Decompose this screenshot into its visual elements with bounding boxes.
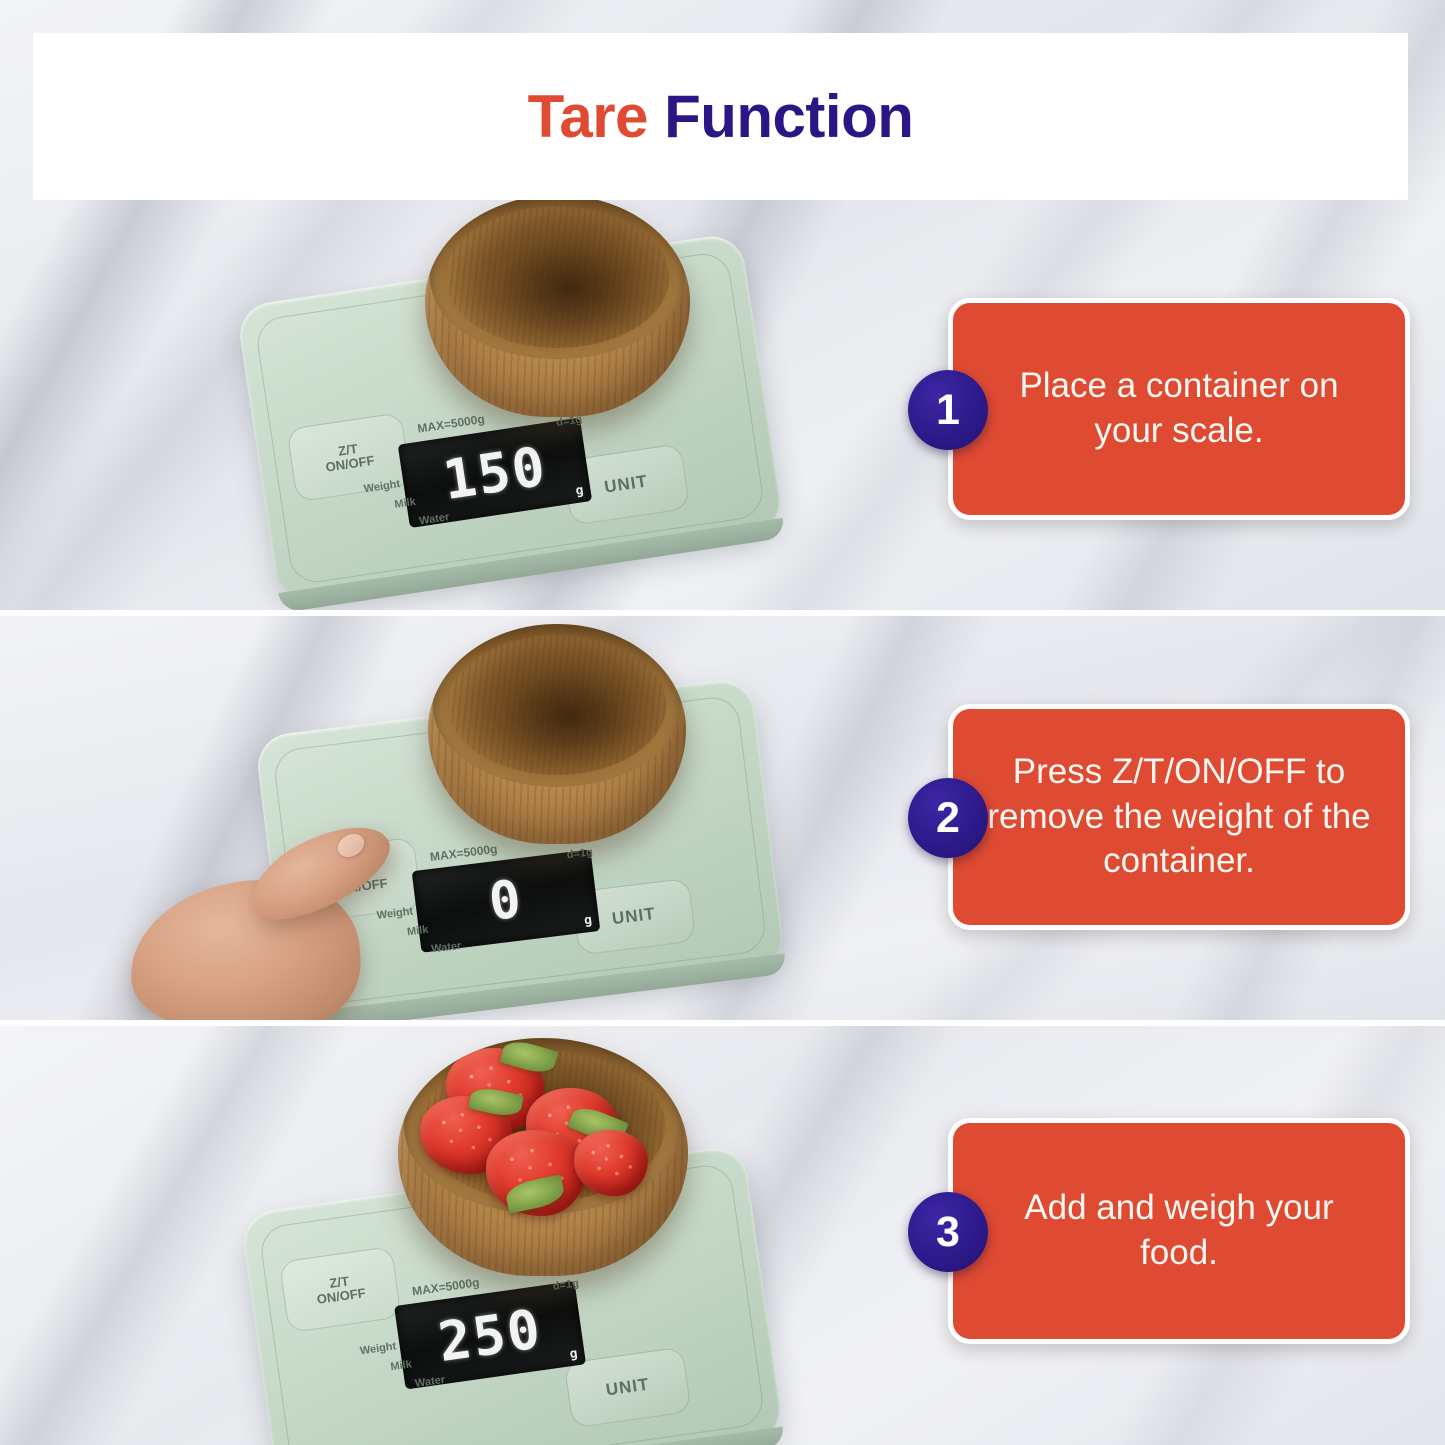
panel-divider-1 (0, 610, 1445, 616)
panel-divider-2 (0, 1020, 1445, 1026)
title-word-tare: Tare (528, 83, 664, 150)
bowl-interior (433, 624, 681, 787)
lcd-unit: g (575, 483, 585, 499)
tare-button-label: Z/T ON/OFF (314, 1272, 367, 1307)
lcd-value: 0 (486, 869, 526, 933)
lcd-value: 250 (434, 1297, 545, 1374)
step-badge-3: 3 (908, 1192, 988, 1272)
callout-text-2: Press Z/T/ON/OFF to remove the weight of… (953, 750, 1405, 884)
wooden-bowl-empty (425, 195, 690, 417)
tare-label-line2: ON/OFF (316, 1285, 367, 1307)
step-number-2: 2 (936, 794, 960, 843)
lcd-unit: g (569, 1346, 579, 1362)
unit-button-label: UNIT (605, 1375, 651, 1399)
page-title: Tare Function (528, 87, 914, 147)
title-word-function: Function (664, 83, 913, 150)
infographic-page: Z/T ON/OFF UNIT 150 g MAX=5000g d=1g Wei… (0, 0, 1445, 1445)
step-badge-1: 1 (908, 370, 988, 450)
title-banner: Tare Function (33, 33, 1408, 200)
callout-step-3: Add and weigh your food. (948, 1118, 1410, 1344)
step-panel-2: Z/T ON/OFF UNIT 0 g MAX=5000g d=1g Weigh… (0, 616, 1445, 1020)
step-number-1: 1 (936, 386, 960, 435)
step-panel-3: Z/T ON/OFF UNIT 250 g MAX=5000g d=1g Wei… (0, 1026, 1445, 1445)
callout-step-1: Place a container on your scale. (948, 298, 1410, 520)
bowl-interior (430, 195, 684, 359)
tare-button-label: Z/T ON/OFF (323, 440, 376, 475)
lcd-value: 150 (439, 434, 551, 512)
tare-label-line2: ON/OFF (325, 453, 376, 475)
callout-step-2: Press Z/T/ON/OFF to remove the weight of… (948, 704, 1410, 930)
wooden-bowl-empty (428, 624, 686, 844)
unit-button-label: UNIT (611, 905, 657, 929)
step-number-3: 3 (936, 1208, 960, 1257)
lcd-unit: g (583, 913, 593, 929)
wooden-bowl-with-strawberries (398, 1038, 688, 1276)
step-badge-2: 2 (908, 778, 988, 858)
unit-button-label: UNIT (603, 472, 649, 497)
callout-text-1: Place a container on your scale. (953, 364, 1405, 454)
callout-text-3: Add and weigh your food. (953, 1186, 1405, 1276)
